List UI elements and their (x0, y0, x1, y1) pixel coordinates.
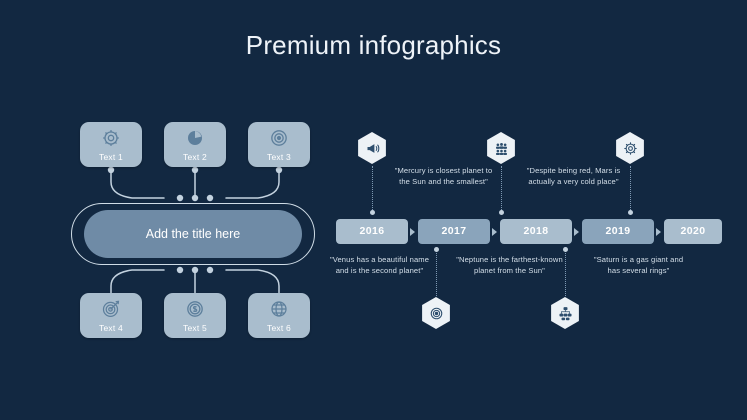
connector-dotted-2020 (630, 166, 631, 212)
connector-dot-2019 (563, 247, 568, 252)
connector-dot-2018 (499, 210, 504, 215)
timeline-diagram: 2016 2017 2018 2019 2020 (330, 110, 730, 355)
note-mars: "Despite being red, Mars is actually a v… (522, 166, 625, 187)
timeline-segment-2018[interactable]: 2018 (500, 219, 572, 244)
target-rings-icon (421, 296, 451, 330)
timeline-bar: 2016 2017 2018 2019 2020 (336, 219, 722, 244)
timeline-segment-2020[interactable]: 2020 (664, 219, 722, 244)
connector-dotted-2019 (565, 250, 566, 296)
note-neptune: "Neptune is the farthest-known planet fr… (456, 255, 563, 276)
timeline-marker-2020[interactable] (615, 131, 645, 165)
timeline-year-label: 2016 (336, 219, 408, 244)
card-text-6[interactable]: Text 6 (248, 293, 310, 338)
timeline-year-label: 2017 (418, 219, 490, 244)
card-label: Text 5 (164, 323, 226, 333)
timeline-marker-2017[interactable] (421, 296, 451, 330)
people-group-icon (486, 131, 516, 165)
connector-dot-2016 (370, 210, 375, 215)
slide-canvas: Premium infographics (0, 0, 747, 420)
dartboard-icon (80, 299, 142, 319)
connector-dot-2020 (628, 210, 633, 215)
timeline-marker-2018[interactable] (486, 131, 516, 165)
timeline-marker-2016[interactable] (357, 131, 387, 165)
pie-chart-icon (164, 128, 226, 148)
card-text-1[interactable]: Text 1 (80, 122, 142, 167)
gear-icon (80, 128, 142, 148)
timeline-segment-2016[interactable]: 2016 (336, 219, 408, 244)
note-venus: "Venus has a beautiful name and is the s… (327, 255, 432, 276)
timeline-segment-2017[interactable]: 2017 (418, 219, 490, 244)
note-saturn: "Saturn is a gas giant and has several r… (587, 255, 690, 276)
card-text-5[interactable]: Text 5 (164, 293, 226, 338)
timeline-year-label: 2019 (582, 219, 654, 244)
hierarchy-icon (550, 296, 580, 330)
segment-arrow-icon (656, 228, 661, 236)
timeline-segment-2019[interactable]: 2019 (582, 219, 654, 244)
megaphone-icon (357, 131, 387, 165)
connector-dot-2017 (434, 247, 439, 252)
timeline-year-label: 2020 (664, 219, 722, 244)
connector-dotted-2017 (436, 250, 437, 296)
timeline-year-label: 2018 (500, 219, 572, 244)
card-label: Text 3 (248, 152, 310, 162)
card-label: Text 1 (80, 152, 142, 162)
card-text-4[interactable]: Text 4 (80, 293, 142, 338)
card-text-3[interactable]: Text 3 (248, 122, 310, 167)
note-mercury: "Mercury is closest planet to the Sun an… (392, 166, 495, 187)
connector-dotted-2016 (372, 166, 373, 212)
card-label: Text 2 (164, 152, 226, 162)
card-text-2[interactable]: Text 2 (164, 122, 226, 167)
gear-settings-icon (615, 131, 645, 165)
timeline-marker-2019[interactable] (550, 296, 580, 330)
globe-icon (248, 299, 310, 319)
left-diagram: Add the title here Text 1 Text 2 (60, 110, 330, 355)
target-circle-icon (248, 128, 310, 148)
center-title-pill[interactable]: Add the title here (84, 210, 302, 258)
segment-arrow-icon (492, 228, 497, 236)
segment-arrow-icon (410, 228, 415, 236)
coin-dollar-icon (164, 299, 226, 319)
card-label: Text 6 (248, 323, 310, 333)
center-title-label: Add the title here (84, 210, 302, 258)
segment-arrow-icon (574, 228, 579, 236)
page-title: Premium infographics (0, 30, 747, 61)
card-label: Text 4 (80, 323, 142, 333)
connector-dotted-2018 (501, 166, 502, 212)
